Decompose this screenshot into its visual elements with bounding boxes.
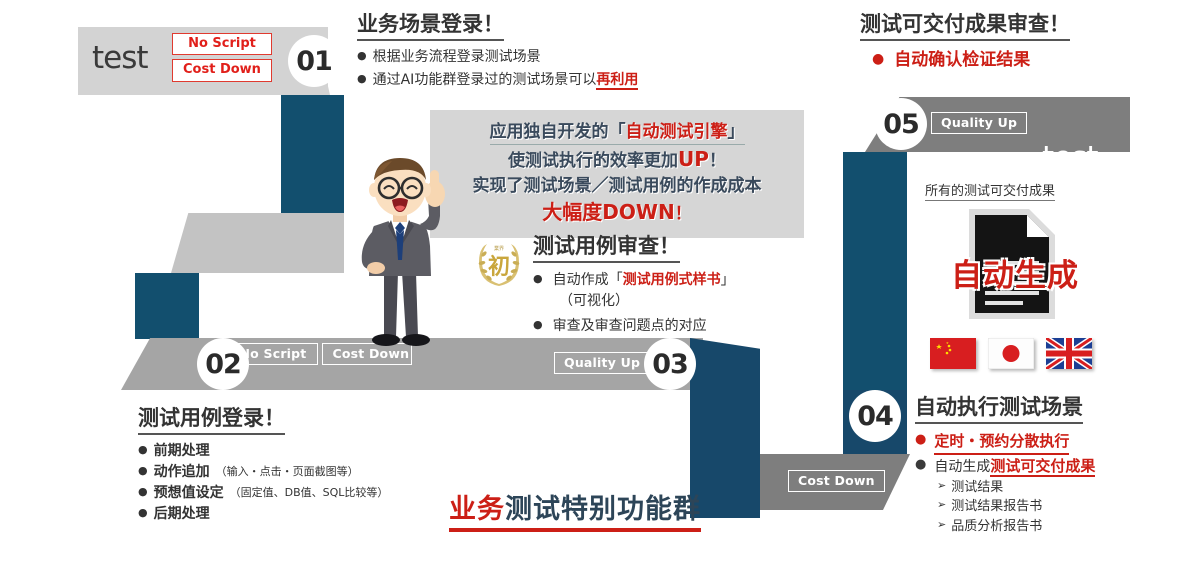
step-02-bullet-4-main: 后期处理 — [154, 504, 210, 525]
bullet-dot-red-icon: ● — [915, 430, 926, 451]
step-01-bullet-2: ● 通过AI功能群登录过的测试场景可以再利用 — [357, 70, 677, 91]
cm-l4-red: 大幅度DOWN — [542, 200, 674, 224]
badge-quality-up-03: Quality Up — [554, 352, 650, 374]
step-02-heading: 测试用例登录！ — [138, 402, 285, 435]
badge-cost-down-04: Cost Down — [788, 470, 885, 492]
test-logo-text-white: test — [1042, 140, 1098, 176]
step-02-bullet-2-main: 动作追加 — [154, 462, 210, 483]
badge-quality-up-05: Quality Up — [931, 112, 1027, 134]
center-message-line-2: 使测试执行的效率更加UP！ — [448, 145, 786, 173]
step-04-sub-2: ➢ 测试结果报告书 — [937, 497, 1175, 517]
step-02-text-block: 测试用例登录！ ● 前期处理 ● 动作追加 （输入・点击・页面截图等） ● 预想… — [138, 402, 468, 525]
step-05-bullet-1-text: 自动确认检证结果 — [894, 48, 1030, 74]
step-04-bullet-1: ● 定时・预约分散执行 — [915, 430, 1175, 455]
step-01-bullet-2-pre: 通过AI功能群登录过的测试场景可以 — [373, 72, 597, 88]
center-message-line-1: 应用独自开发的「自动测试引擎」 — [448, 120, 786, 145]
s3-b1-pre: 自动作成「 — [553, 272, 623, 288]
step-01-bullet-2-highlight: 再利用 — [596, 72, 638, 90]
china-flag-icon — [930, 338, 976, 369]
center-message-box: 应用独自开发的「自动测试引擎」 使测试执行的效率更加UP！ 实现了测试场景／测试… — [430, 110, 804, 238]
step-05-heading: 测试可交付成果审查！ — [860, 8, 1070, 41]
step-04-text-block: 自动执行测试场景 ● 定时・预约分散执行 ● 自动生成测试可交付成果 ➢ 测试结… — [915, 391, 1175, 536]
infographic-canvas: 01 02 03 test ✧ No Script Cost Down No S… — [0, 0, 1181, 579]
step-04-sub-1: ➢ 测试结果 — [937, 478, 1175, 498]
step-01-bullet-1: ● 根据业务流程登录测试场景 — [357, 47, 677, 68]
cm-l2-red: UP — [678, 147, 709, 171]
step-01-text-block: 业务场景登录！ ● 根据业务流程登录测试场景 ● 通过AI功能群登录过的测试场景… — [357, 8, 677, 91]
s4-b2-red: 测试可交付成果 — [990, 457, 1095, 477]
step-03-bullet-2: （可视化） — [559, 291, 793, 312]
businessman-illustration — [336, 152, 466, 357]
japan-flag-icon — [988, 338, 1034, 369]
bottom-title-red: 业务 — [449, 494, 505, 525]
badge-no-script-red: No Script — [172, 33, 272, 55]
step-number-04: 04 — [849, 390, 901, 442]
cm-l2-post: ！ — [709, 151, 726, 171]
step-02-bullet-3-sub: （固定值、DB值、SQL比较等） — [230, 483, 389, 503]
step-03-text-block: 测试用例审查！ ● 自动作成「测试用例式样书」 （可视化） ● 审查及审查问题点… — [533, 230, 793, 337]
bullet-dot-icon: ● — [138, 504, 148, 522]
step-02-bullet-1: ● 前期处理 — [138, 441, 468, 462]
step-04-badge: Cost Down — [788, 470, 885, 492]
step-04-sub-2-text: 测试结果报告书 — [951, 497, 1042, 517]
bullet-dot-icon: ● — [533, 270, 543, 288]
step-number-01: 01 — [288, 35, 340, 87]
step-03-badge: Quality Up — [554, 352, 650, 374]
riser-01-02 — [281, 95, 344, 213]
bullet-dot-icon: ● — [138, 483, 148, 501]
step-02-bullet-2: ● 动作追加 （输入・点击・页面截图等） — [138, 462, 468, 483]
step-02-bullet-3: ● 预想值设定 （固定值、DB值、SQL比较等） — [138, 483, 468, 504]
bottom-title-navy: 测试特别功能群 — [505, 494, 701, 525]
arrow-icon: ➢ — [937, 478, 946, 495]
bullet-dot-icon: ● — [138, 462, 148, 480]
document-overlay-text: 自动生成 — [940, 250, 1090, 295]
bottom-title: 业务测试特别功能群 — [449, 487, 701, 532]
step-03-bullet-3: ● 审查及审查问题点的对应 — [533, 316, 793, 337]
step-02-bullet-3-main: 预想值设定 — [154, 483, 224, 504]
step-04-sub-3-text: 品质分析报告书 — [951, 517, 1042, 537]
seal-top-text: 業界 — [494, 245, 504, 252]
step-03-bullet-3-text: 审查及审查问题点的对应 — [553, 316, 707, 337]
step-01-bullet-1-text: 根据业务流程登录测试场景 — [373, 47, 541, 68]
step-04-bullet-2-text: 自动生成测试可交付成果 — [934, 455, 1095, 478]
step-02-bullet-1-main: 前期处理 — [154, 441, 210, 462]
bullet-dot-icon: ● — [138, 441, 148, 459]
step-03-bullet-2-text: （可视化） — [559, 291, 629, 312]
bullet-dot-icon: ● — [533, 316, 543, 334]
step-number-05: 05 — [875, 98, 927, 150]
s3-b1-post: 」 — [721, 272, 735, 288]
uk-flag-icon — [1046, 338, 1092, 369]
step-01-badges: No Script Cost Down — [172, 33, 272, 82]
s3-b1-red: 测试用例式样书 — [623, 272, 721, 288]
step-01-heading: 业务场景登录！ — [357, 8, 504, 41]
cm-l1-pre: 应用独自开发的「 — [490, 122, 626, 142]
arrow-icon: ➢ — [937, 517, 946, 534]
step-04-sub-1-text: 测试结果 — [951, 478, 1003, 498]
gold-seal-icon: 業界 初 — [473, 238, 525, 290]
step-03-bullet-1: ● 自动作成「测试用例式样书」 — [533, 270, 793, 291]
step-01-bullet-2-text: 通过AI功能群登录过的测试场景可以再利用 — [373, 70, 639, 91]
right-panel-caption: 所有的测试可交付成果 — [925, 180, 1055, 201]
s4-b2-pre: 自动生成 — [934, 459, 990, 475]
center-message-line-1-inner: 应用独自开发的「自动测试引擎」 — [490, 120, 745, 145]
step-05-bullet-1: ● 自动确认检证结果 — [872, 48, 1170, 74]
center-message-line-4: 大幅度DOWN！ — [448, 198, 786, 226]
step-05-badge: Quality Up — [931, 112, 1027, 134]
badge-cost-down-red: Cost Down — [172, 59, 272, 81]
bullet-dot-icon: ● — [357, 70, 367, 88]
step-05-text-block: 测试可交付成果审查！ ● 自动确认检证结果 — [860, 8, 1170, 74]
bullet-dot-red-icon: ● — [872, 48, 884, 70]
step-02-bullet-2-sub: （输入・点击・页面截图等） — [216, 462, 359, 482]
step-02-bullet-4: ● 后期处理 — [138, 504, 468, 525]
bullet-dot-icon: ● — [915, 455, 926, 476]
step-04-bullet-2: ● 自动生成测试可交付成果 — [915, 455, 1175, 478]
cm-l4-post: ！ — [675, 204, 692, 224]
step-04-heading: 自动执行测试场景 — [915, 391, 1083, 424]
step-03-bullet-1-text: 自动作成「测试用例式样书」 — [553, 270, 735, 291]
test-logo-white: test ✧ — [1042, 140, 1181, 176]
seal-char: 初 — [488, 254, 510, 280]
cm-l1-post: 」 — [728, 122, 745, 142]
step-04-sub-3: ➢ 品质分析报告书 — [937, 517, 1175, 537]
cm-l2-pre: 使测试执行的效率更加 — [508, 151, 678, 171]
bullet-dot-icon: ● — [357, 47, 367, 65]
tread-02 — [171, 213, 344, 273]
test-logo-text: test — [92, 40, 148, 76]
center-message-line-3: 实现了测试场景／测试用例的作成成本 — [448, 174, 786, 198]
step-number-03: 03 — [644, 338, 696, 390]
step-04-bullet-1-text: 定时・预约分散执行 — [934, 430, 1069, 455]
step-03-heading: 测试用例审查！ — [533, 230, 680, 263]
arrow-icon: ➢ — [937, 497, 946, 514]
cm-l1-red: 自动测试引擎 — [626, 122, 728, 142]
step-number-02: 02 — [197, 338, 249, 390]
riser-02-03 — [135, 273, 199, 339]
